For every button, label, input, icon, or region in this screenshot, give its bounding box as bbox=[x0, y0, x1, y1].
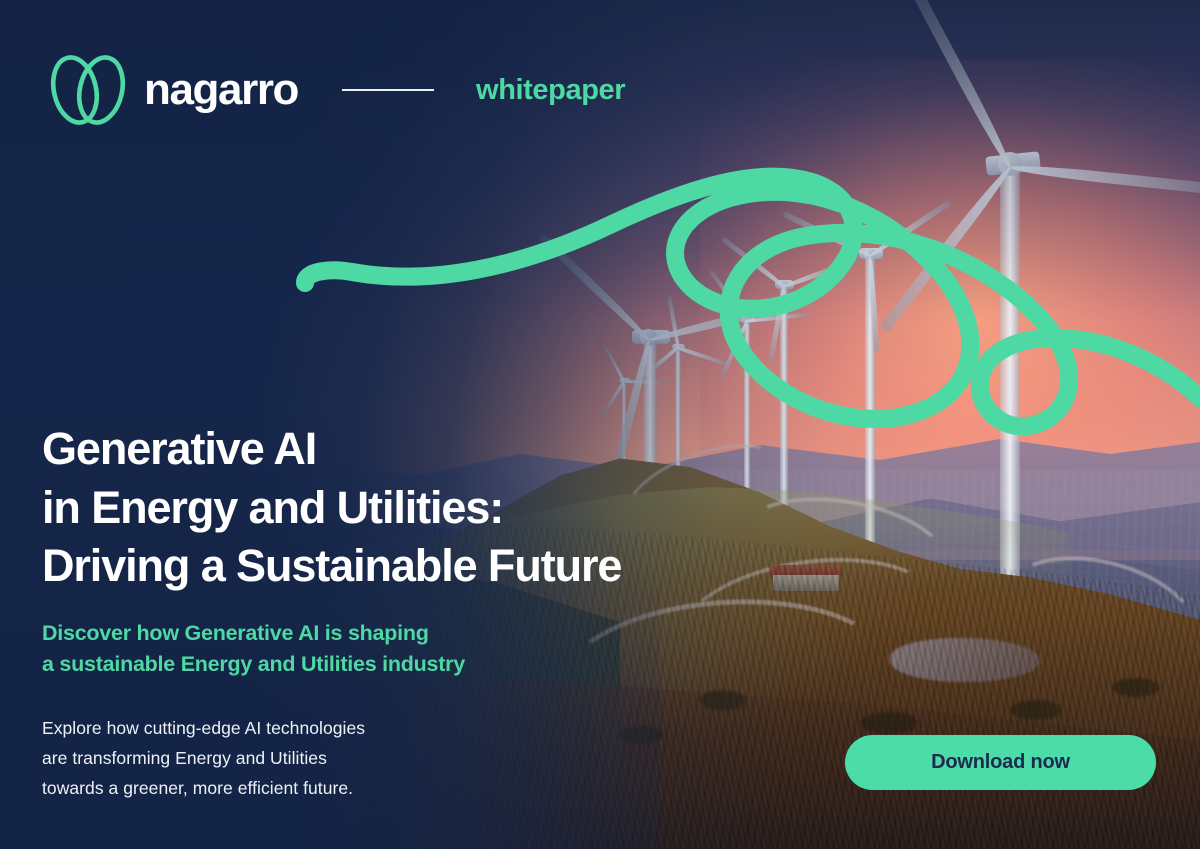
brand-name[interactable]: nagarro bbox=[144, 68, 298, 112]
download-now-button[interactable]: Download now bbox=[845, 735, 1156, 790]
body-copy: Explore how cutting-edge AI technologies… bbox=[42, 714, 365, 803]
brand-header: nagarro whitepaper bbox=[42, 48, 625, 132]
page-title: Generative AI in Energy and Utilities: D… bbox=[42, 420, 621, 596]
nagarro-loop-logo-icon[interactable] bbox=[42, 48, 134, 132]
whitepaper-promo-banner: nagarro whitepaper Generative AI in Ener… bbox=[0, 0, 1200, 849]
subheadline: Discover how Generative AI is shaping a … bbox=[42, 618, 465, 679]
document-type-kicker: whitepaper bbox=[476, 76, 625, 105]
header-divider-icon bbox=[342, 89, 434, 91]
